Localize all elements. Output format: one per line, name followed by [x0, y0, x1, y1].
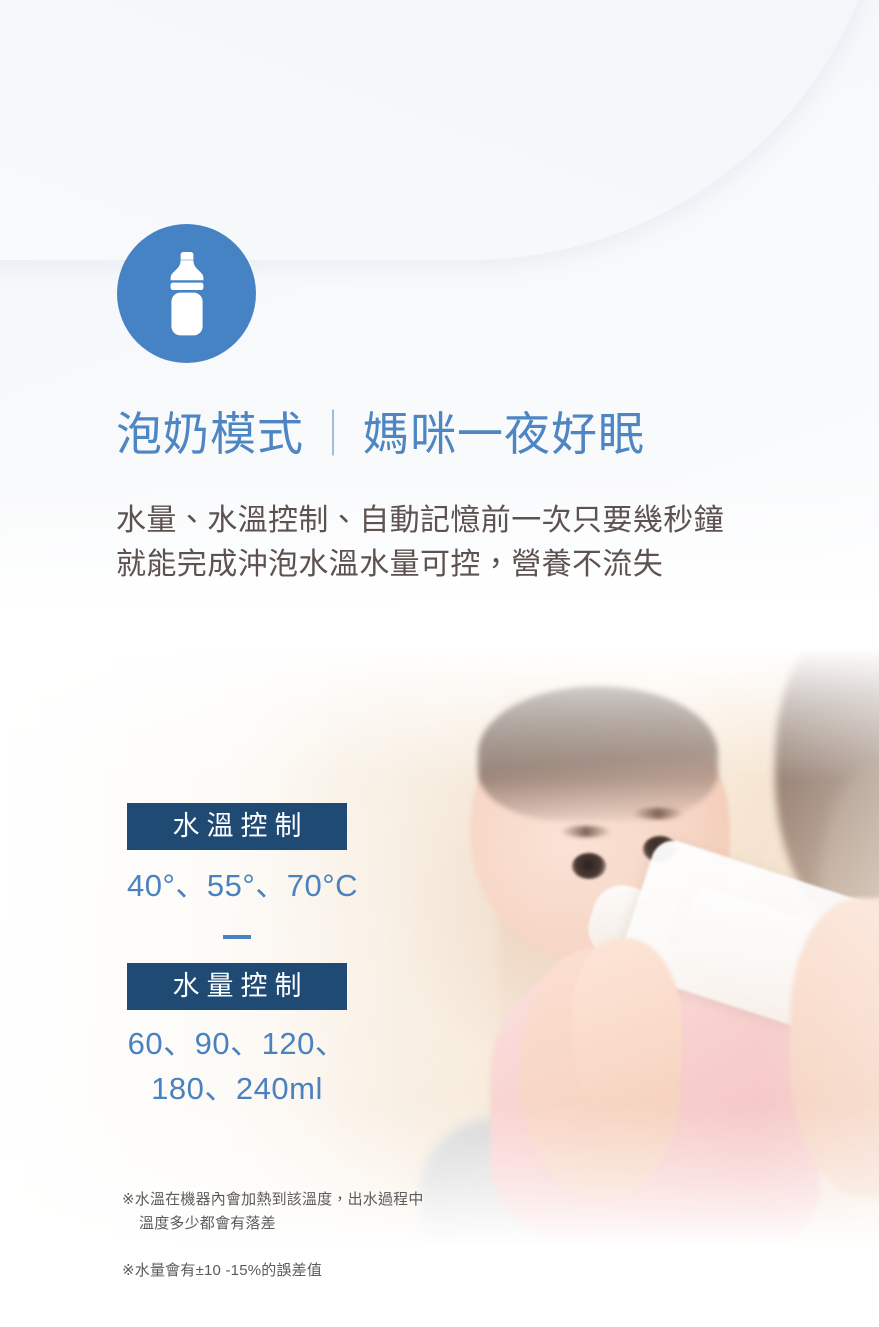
footnote-temperature-line-2: 溫度多少都會有落差: [122, 1212, 522, 1236]
water-volume-value-line-2: 180、240ml: [127, 1069, 347, 1110]
water-volume-value-line-1: 60、90、120、: [127, 1024, 347, 1065]
photo-baby-hand: [572, 938, 682, 1118]
footnotes: ※水溫在機器內會加熱到該溫度，出水過程中 溫度多少都會有落差 ※水量會有±10 …: [122, 1188, 522, 1283]
water-volume-value: 60、90、120、 180、240ml: [127, 1024, 347, 1110]
headline-divider: ｜: [304, 408, 363, 460]
baby-bottle-badge: [117, 224, 256, 363]
footnote-volume: ※水量會有±10 -15%的誤差值: [122, 1259, 522, 1283]
footnote-temperature: ※水溫在機器內會加熱到該溫度，出水過程中 溫度多少都會有落差: [122, 1188, 522, 1237]
photo-baby-eye-left: [572, 853, 606, 879]
subtitle-line-2: 就能完成沖泡水溫水量可控，營養不流失: [116, 543, 816, 587]
footnote-temperature-line-1: ※水溫在機器內會加熱到該溫度，出水過程中: [122, 1188, 522, 1212]
spec-separator: [223, 935, 251, 939]
headline-left: 泡奶模式: [116, 408, 304, 460]
photo-baby-brow-left: [560, 826, 612, 837]
footnote-volume-line-1: ※水量會有±10 -15%的誤差值: [122, 1259, 522, 1283]
subtitle-line-1: 水量、水溫控制、自動記憶前一次只要幾秒鐘: [116, 499, 816, 543]
spec-block: 水溫控制 40°、55°、70°C 水量控制 60、90、120、 180、24…: [127, 803, 347, 1110]
page-subtitle: 水量、水溫控制、自動記憶前一次只要幾秒鐘 就能完成沖泡水溫水量可控，營養不流失: [116, 499, 816, 588]
page-title: 泡奶模式｜媽咪一夜好眠: [116, 406, 645, 464]
baby-bottle-icon: [156, 252, 218, 336]
headline-right: 媽咪一夜好眠: [363, 408, 645, 460]
water-temperature-value: 40°、55°、70°C: [127, 866, 347, 907]
promo-page: 泡奶模式｜媽咪一夜好眠 水量、水溫控制、自動記憶前一次只要幾秒鐘 就能完成沖泡水…: [0, 0, 879, 1327]
photo-baby-brow-right: [632, 808, 684, 819]
water-temperature-title: 水溫控制: [127, 803, 347, 850]
hero-rounded-card: [0, 0, 879, 260]
photo-baby-hair: [478, 686, 718, 821]
water-volume-title: 水量控制: [127, 963, 347, 1010]
